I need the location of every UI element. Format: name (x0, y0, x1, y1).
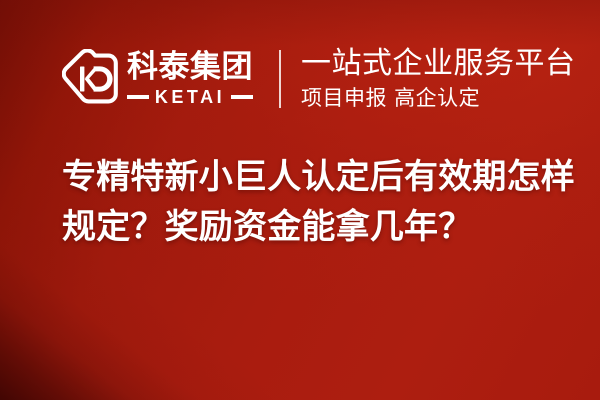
banner-header: 科泰集团 KETAI 一站式企业服务平台 项目申报 高企认定 (0, 40, 600, 118)
header-divider (279, 50, 281, 108)
wordmark-rule-right (231, 95, 253, 99)
ketai-diamond-kt-monogram-icon (62, 49, 118, 109)
headline-line-1: 专精特新小巨人认定后有效期怎样 (62, 152, 574, 202)
promo-banner: 科泰集团 KETAI 一站式企业服务平台 项目申报 高企认定 专精特新小巨人认定… (0, 0, 600, 400)
tagline-block: 一站式企业服务平台 项目申报 高企认定 (301, 48, 576, 109)
brand-logo-lockup[interactable]: 科泰集团 KETAI (62, 49, 253, 109)
headline-block: 专精特新小巨人认定后有效期怎样 规定？奖励资金能拿几年？ (62, 152, 574, 252)
brand-name-cn: 科泰集团 (127, 52, 253, 83)
wordmark-rule-left (127, 95, 149, 99)
tagline-primary: 一站式企业服务平台 (301, 48, 576, 80)
brand-name-en-row: KETAI (127, 88, 253, 106)
brand-wordmark: 科泰集团 KETAI (127, 52, 253, 106)
brand-name-en: KETAI (155, 88, 225, 106)
headline-line-2: 规定？奖励资金能拿几年？ (62, 202, 574, 252)
tagline-secondary: 项目申报 高企认定 (301, 87, 576, 110)
